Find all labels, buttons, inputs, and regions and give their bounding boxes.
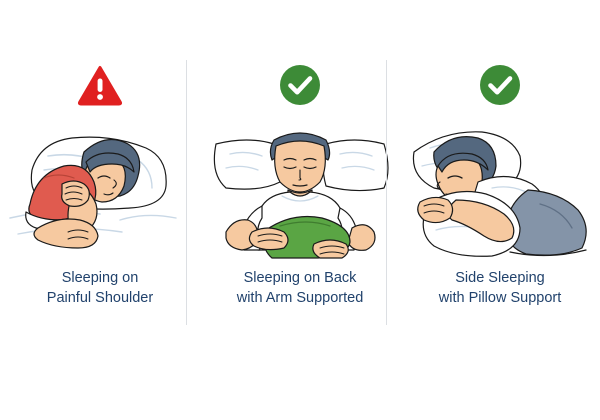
- panel-side-pillow-support: Side Sleeping with Pillow Support: [400, 0, 600, 340]
- caption-line-1: Sleeping on: [0, 268, 200, 288]
- check-circle-icon: [477, 62, 523, 108]
- panel-row: Sleeping on Painful Shoulder: [0, 0, 600, 340]
- caption-line-2: Painful Shoulder: [0, 288, 200, 308]
- panel-caption: Sleeping on Back with Arm Supported: [200, 268, 400, 308]
- panel-caption: Sleeping on Painful Shoulder: [0, 268, 200, 308]
- caption-line-2: with Arm Supported: [200, 288, 400, 308]
- panel-caption: Side Sleeping with Pillow Support: [400, 268, 600, 308]
- man-back-sleeping-with-green-pillow-illustration: [200, 108, 400, 258]
- check-circle-icon: [277, 62, 323, 108]
- caption-line-1: Sleeping on Back: [200, 268, 400, 288]
- woman-side-sleeping-on-painful-shoulder-illustration: [0, 108, 200, 258]
- caption-line-2: with Pillow Support: [400, 288, 600, 308]
- person-side-sleeping-hugging-pillow-illustration: [400, 108, 600, 258]
- warning-triangle-icon: [77, 62, 123, 108]
- panel-back-arm-supported: Sleeping on Back with Arm Supported: [200, 0, 400, 340]
- caption-line-1: Side Sleeping: [400, 268, 600, 288]
- panel-divider-2: [386, 60, 387, 325]
- panel-painful-shoulder: Sleeping on Painful Shoulder: [0, 0, 200, 340]
- panel-divider-1: [186, 60, 187, 325]
- sleeping-positions-infographic: Sleeping on Painful Shoulder: [0, 0, 600, 420]
